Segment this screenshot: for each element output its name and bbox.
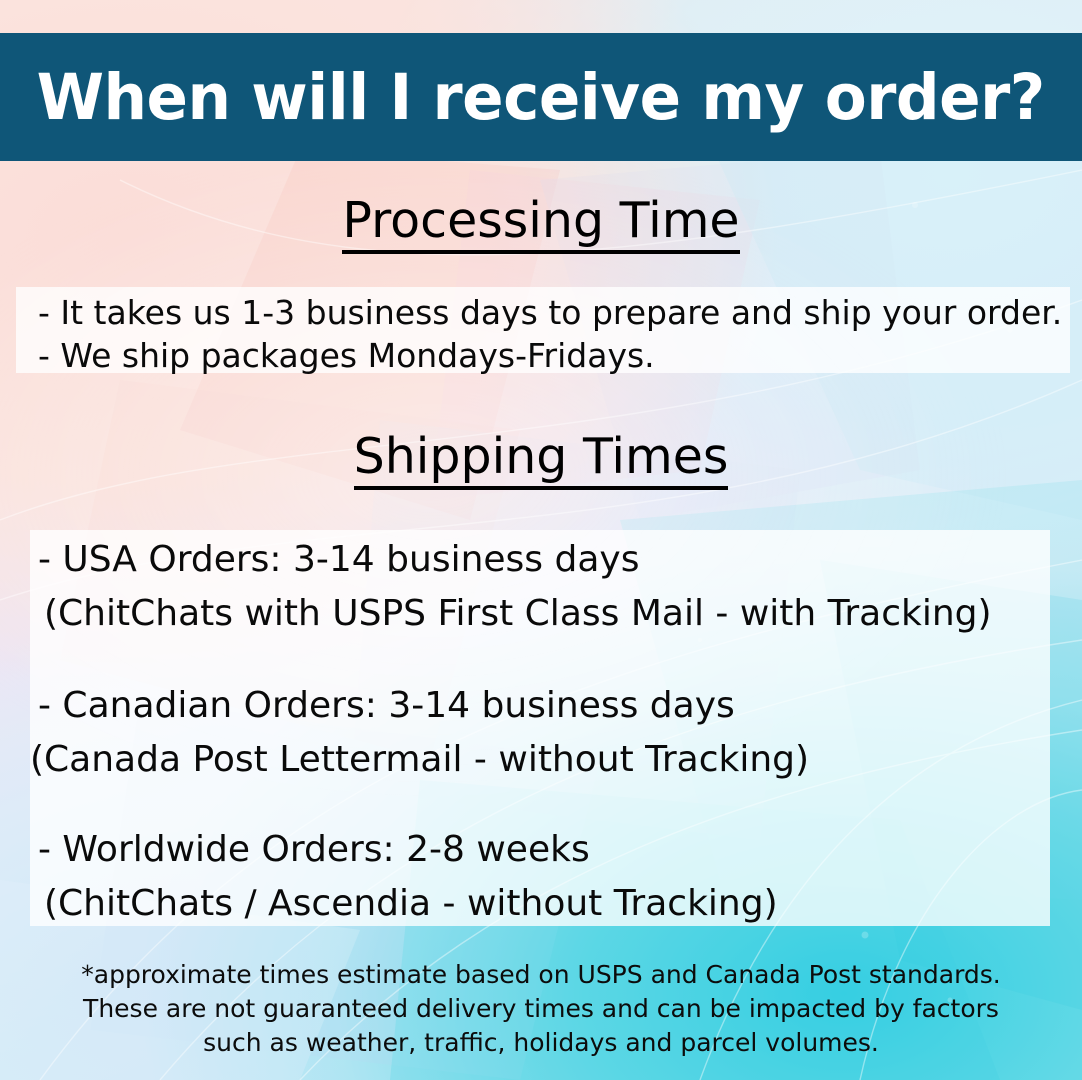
shipping-entry-canada-detail: (Canada Post Lettermail - without Tracki… [30, 742, 809, 778]
footnote-line-1: *approximate times estimate based on USP… [0, 958, 1082, 992]
processing-line-1: - It takes us 1-3 business days to prepa… [38, 296, 1062, 329]
infographic-canvas: When will I receive my order? Processing… [0, 0, 1082, 1080]
footnote: *approximate times estimate based on USP… [0, 958, 1082, 1060]
section-heading-shipping-times-text: Shipping Times [354, 432, 729, 490]
footnote-line-2: These are not guaranteed delivery times … [0, 992, 1082, 1026]
shipping-entry-canada-title: - Canadian Orders: 3-14 business days [38, 688, 735, 724]
section-heading-processing-time-text: Processing Time [342, 196, 739, 254]
section-heading-processing-time: Processing Time [0, 196, 1082, 254]
processing-time-panel: - It takes us 1-3 business days to prepa… [16, 287, 1070, 373]
section-heading-shipping-times: Shipping Times [0, 432, 1082, 490]
shipping-entry-worldwide-detail: (ChitChats / Ascendia - without Tracking… [44, 886, 778, 922]
shipping-times-panel: - USA Orders: 3-14 business days (ChitCh… [30, 530, 1050, 926]
shipping-entry-usa-title: - USA Orders: 3-14 business days [38, 542, 639, 578]
shipping-entry-worldwide-title: - Worldwide Orders: 2-8 weeks [38, 832, 590, 868]
footnote-line-3: such as weather, traffic, holidays and p… [0, 1026, 1082, 1060]
shipping-entry-usa-detail: (ChitChats with USPS First Class Mail - … [44, 596, 992, 632]
processing-line-2: - We ship packages Mondays-Fridays. [38, 339, 655, 372]
page-title: When will I receive my order? [37, 66, 1045, 129]
header-banner: When will I receive my order? [0, 33, 1082, 161]
